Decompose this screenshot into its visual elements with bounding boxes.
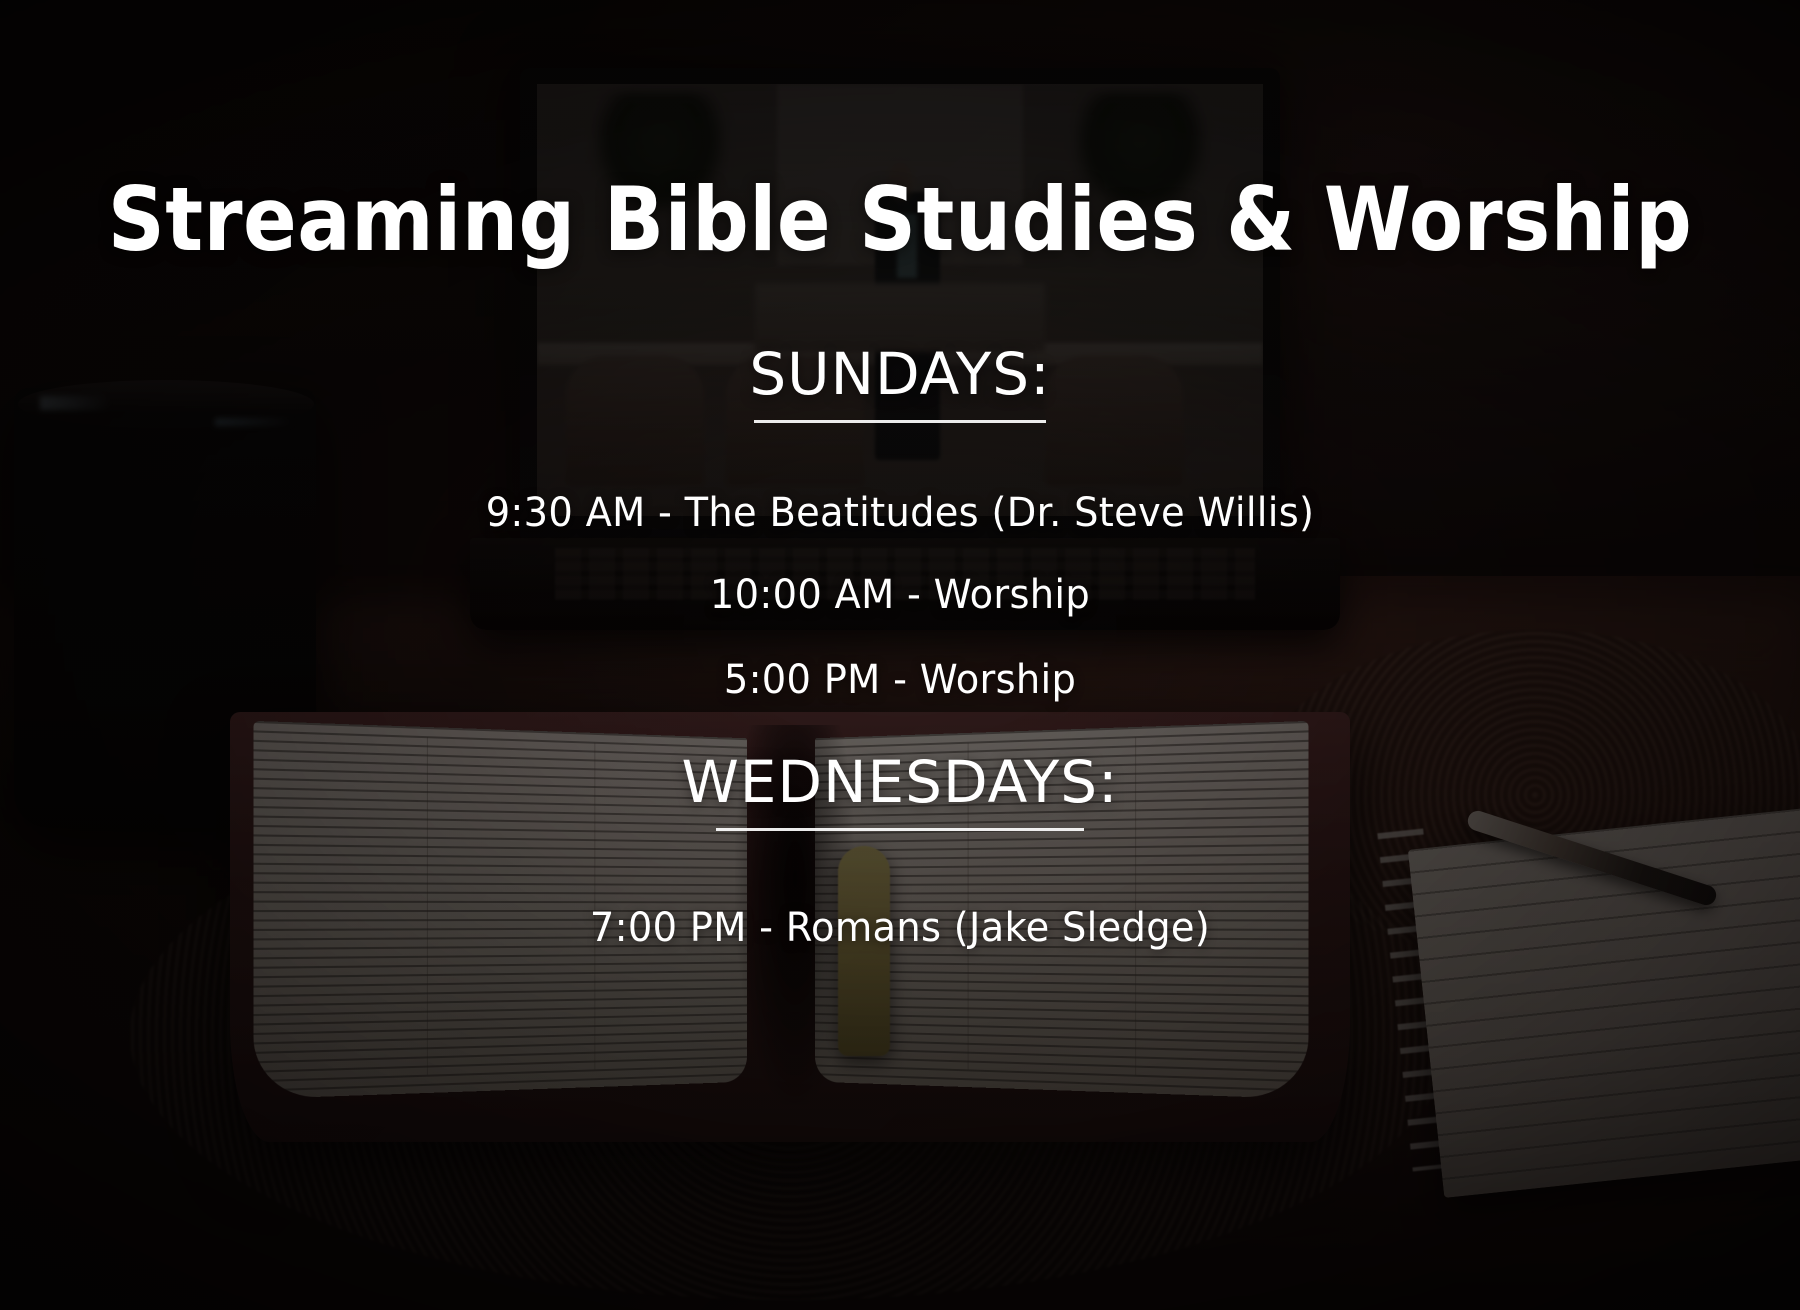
schedule-line-sunday-930: 9:30 AM - The Beatitudes (Dr. Steve Will… [36, 490, 1764, 536]
heading-sundays-label: SUNDAYS: [749, 340, 1050, 408]
heading-sundays-underline [754, 420, 1046, 423]
poster-canvas: Streaming Bible Studies & Worship SUNDAY… [0, 0, 1800, 1310]
text-overlay: Streaming Bible Studies & Worship SUNDAY… [0, 0, 1800, 1310]
schedule-line-sunday-500: 5:00 PM - Worship [36, 657, 1764, 703]
poster-title: Streaming Bible Studies & Worship [90, 176, 1710, 264]
schedule-line-wednesday-700: 7:00 PM - Romans (Jake Sledge) [36, 905, 1764, 951]
heading-sundays: SUNDAYS: [0, 340, 1800, 423]
heading-wednesdays-underline [716, 828, 1084, 831]
heading-wednesdays: WEDNESDAYS: [0, 748, 1800, 831]
heading-wednesdays-label: WEDNESDAYS: [681, 748, 1118, 816]
schedule-line-sunday-1000: 10:00 AM - Worship [36, 572, 1764, 618]
